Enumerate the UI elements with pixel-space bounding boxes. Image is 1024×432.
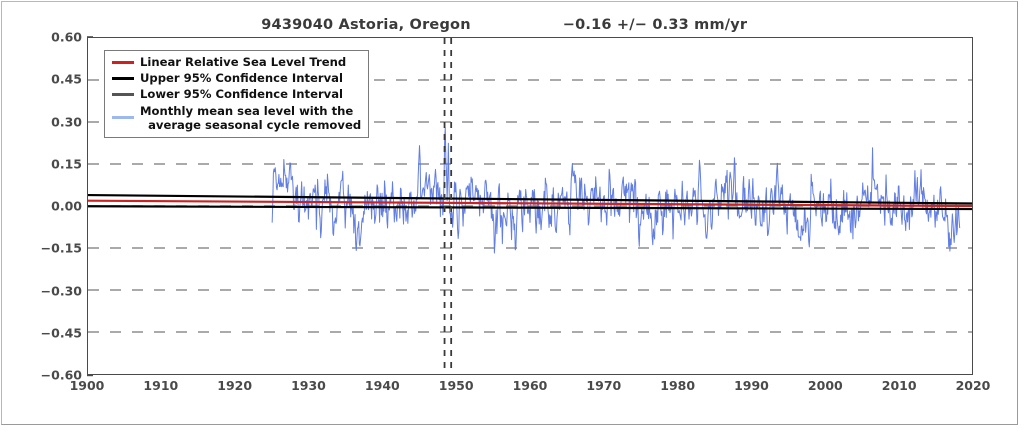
chart-legend: Linear Relative Sea Level TrendUpper 95%…: [104, 50, 369, 138]
legend-swatch: [112, 77, 134, 80]
y-axis-tick-label: −0.15: [30, 241, 82, 256]
legend-item: Monthly mean sea level with the average …: [111, 103, 361, 132]
x-axis-tick-label: 1920: [205, 378, 265, 393]
x-axis-tick-labels: 1900191019201930194019501960197019801990…: [87, 378, 973, 400]
legend-label: Lower 95% Confidence Interval: [140, 87, 343, 101]
x-axis-tick-label: 2020: [943, 378, 1003, 393]
x-axis-tick-label: 1940: [352, 378, 412, 393]
x-axis-tick-label: 1970: [574, 378, 634, 393]
x-axis-tick-label: 1930: [279, 378, 339, 393]
y-axis-tick-label: 0.30: [30, 114, 82, 129]
x-axis-tick-label: 1900: [57, 378, 117, 393]
legend-item: Upper 95% Confidence Interval: [111, 71, 361, 87]
legend-swatch: [112, 93, 134, 96]
x-axis-tick-label: 1960: [500, 378, 560, 393]
y-axis-tick-label: −0.45: [30, 325, 82, 340]
legend-item: Linear Relative Sea Level Trend: [111, 55, 361, 71]
legend-swatch: [112, 61, 134, 64]
x-axis-tick-label: 1910: [131, 378, 191, 393]
series-monthly-mean-sea-level: [272, 128, 960, 253]
chart-page: 9439040 Astoria, Oregon −0.16 +/− 0.33 m…: [0, 0, 1024, 432]
trend-rate-label: −0.16 +/− 0.33 mm/yr: [545, 17, 765, 33]
legend-swatch: [112, 116, 134, 119]
legend-label: Linear Relative Sea Level Trend: [140, 55, 346, 69]
legend-label: Monthly mean sea level with the average …: [140, 104, 361, 132]
page-title: 9439040 Astoria, Oregon: [186, 17, 546, 33]
y-axis-tick-label: 0.15: [30, 156, 82, 171]
y-axis-tick-label: −0.30: [30, 283, 82, 298]
legend-item: Lower 95% Confidence Interval: [111, 87, 361, 103]
y-axis-tick-label: 0.60: [30, 30, 82, 45]
y-axis-tick-labels: 0.600.450.300.150.00−0.15−0.30−0.45−0.60: [24, 37, 82, 375]
x-axis-tick-label: 2000: [795, 378, 855, 393]
x-axis-tick-label: 1950: [426, 378, 486, 393]
y-axis-tick-label: 0.00: [30, 199, 82, 214]
y-axis-tick-label: 0.45: [30, 72, 82, 87]
x-axis-tick-label: 1980: [648, 378, 708, 393]
x-axis-tick-label: 1990: [722, 378, 782, 393]
x-axis-tick-label: 2010: [869, 378, 929, 393]
legend-label: Upper 95% Confidence Interval: [140, 71, 343, 85]
